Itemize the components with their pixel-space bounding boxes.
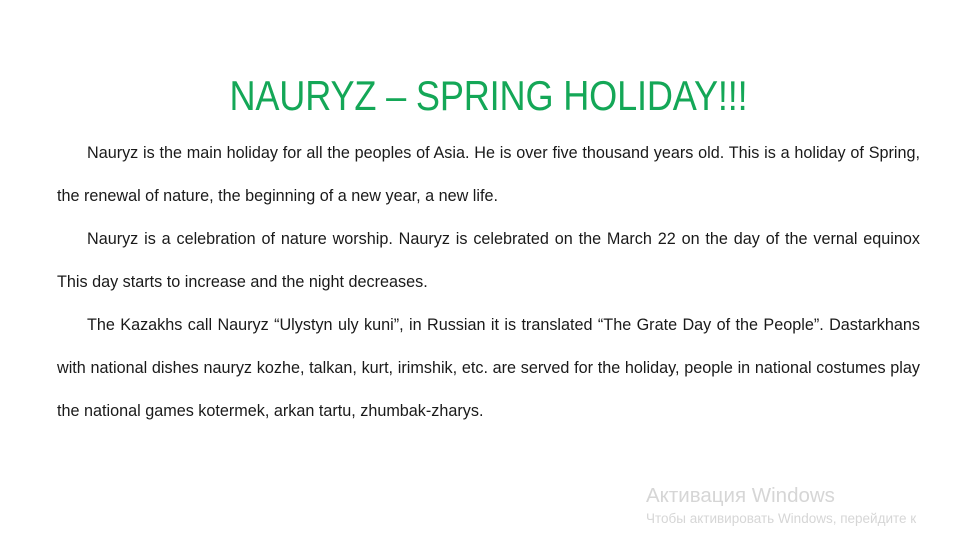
body-text-block: Nauryz is the main holiday for all the p… xyxy=(57,132,920,433)
paragraph-1: Nauryz is the main holiday for all the p… xyxy=(57,132,920,218)
paragraph-3: The Kazakhs call Nauryz “Ulystyn uly kun… xyxy=(57,304,920,433)
windows-activation-watermark: Активация Windows Чтобы активировать Win… xyxy=(646,484,977,529)
page-title: NAURYZ – SPRING HOLIDAY!!! xyxy=(68,72,908,119)
watermark-subtitle: Чтобы активировать Windows, перейдите к xyxy=(646,509,977,529)
paragraph-2: Nauryz is a celebration of nature worshi… xyxy=(57,218,920,304)
slide-canvas: NAURYZ – SPRING HOLIDAY!!! Nauryz is the… xyxy=(0,0,977,534)
watermark-title: Активация Windows xyxy=(646,484,977,508)
